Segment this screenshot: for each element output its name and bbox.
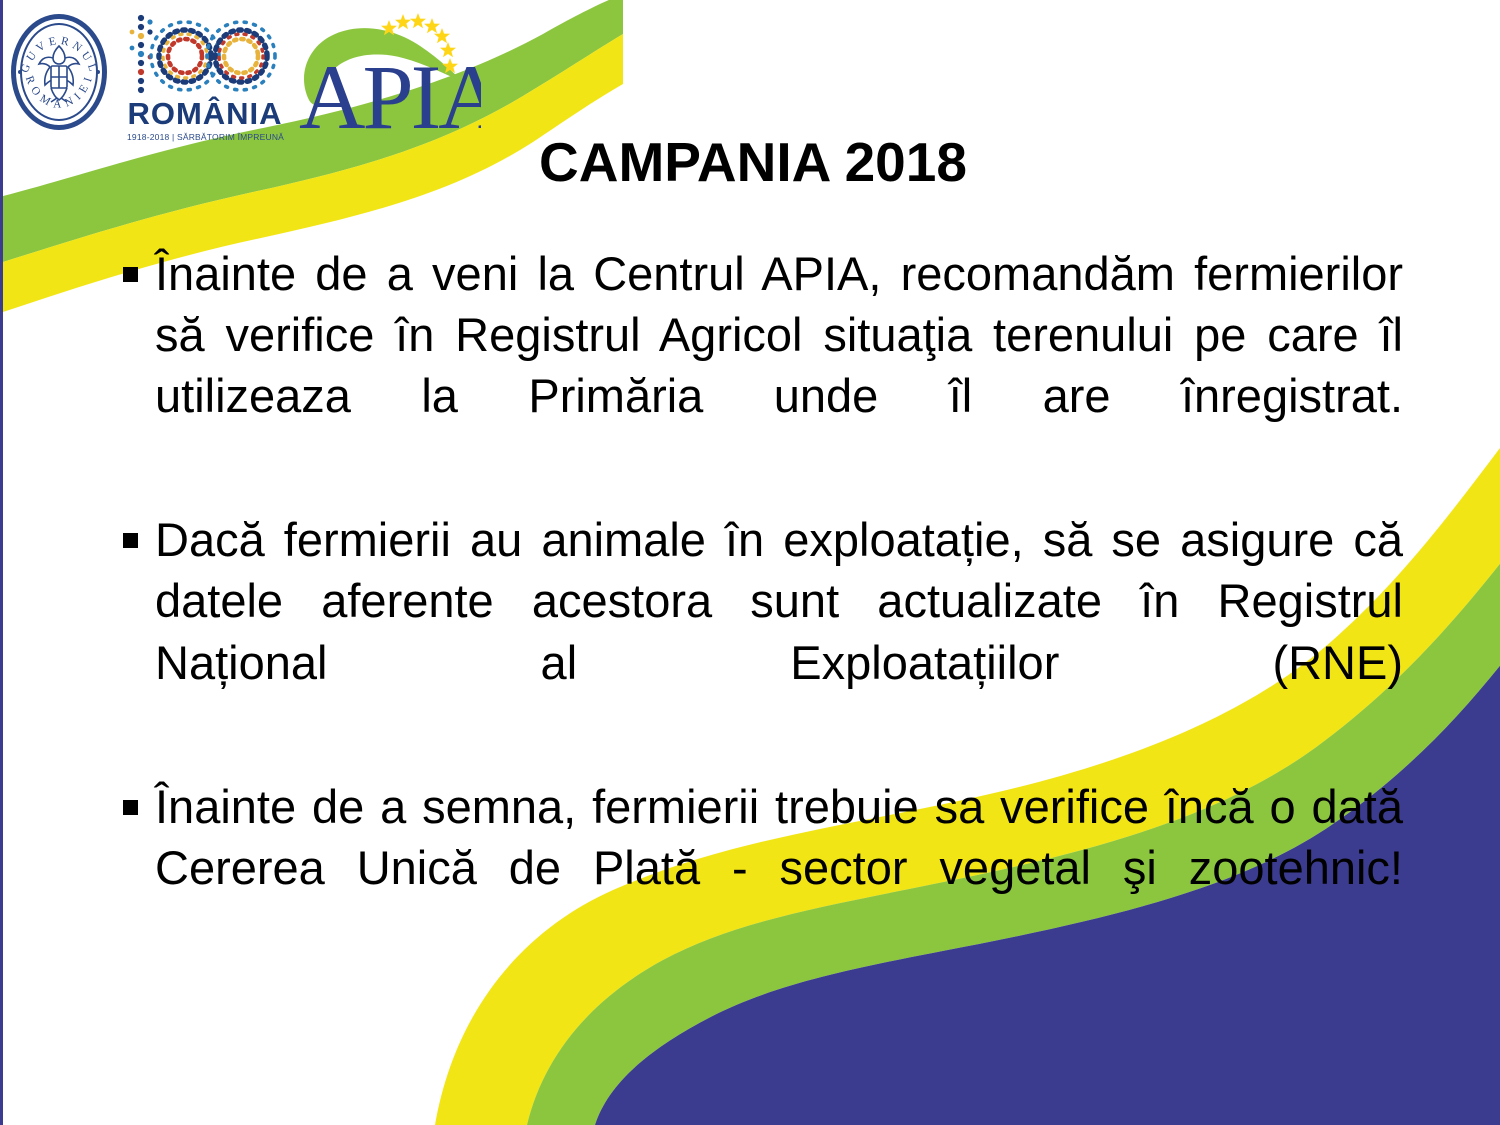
centenary-country-label: ROMÂNIA (127, 98, 283, 129)
list-item: Înainte de a veni la Centrul APIA, recom… (115, 243, 1403, 487)
list-item-text: Dacă fermierii au animale în exploatație… (155, 509, 1403, 753)
slide-header: GUVERNUL ROMÂNIEI (3, 0, 563, 150)
eagle-crest-icon (37, 40, 81, 104)
apia-wordmark: APIA (299, 46, 481, 144)
apia-logo-graphic: APIA (291, 4, 481, 144)
square-bullet-icon (123, 800, 138, 815)
centenary-100-logo-icon: ROMÂNIA 1918-2018 | SĂRBĂTORIM ÎMPREUNĂ (127, 12, 283, 142)
presentation-slide: GUVERNUL ROMÂNIEI (0, 0, 1500, 1125)
slide-body: Înainte de a veni la Centrul APIA, recom… (115, 243, 1403, 959)
page-title: CAMPANIA 2018 (473, 134, 1033, 192)
list-item: Înainte de a semna, fermierii trebuie sa… (115, 776, 1403, 959)
square-bullet-icon (123, 267, 138, 282)
list-item-text: Înainte de a semna, fermierii trebuie sa… (155, 776, 1403, 959)
centenary-dot-pattern (127, 12, 283, 102)
list-item-text: Înainte de a veni la Centrul APIA, recom… (155, 243, 1403, 487)
list-item: Dacă fermierii au animale în exploatație… (115, 509, 1403, 753)
square-bullet-icon (123, 533, 138, 548)
romania-government-seal-icon: GUVERNUL ROMÂNIEI (11, 14, 109, 132)
centenary-tagline: 1918-2018 | SĂRBĂTORIM ÎMPREUNĂ (127, 132, 283, 142)
apia-logo-icon: APIA (291, 4, 481, 144)
